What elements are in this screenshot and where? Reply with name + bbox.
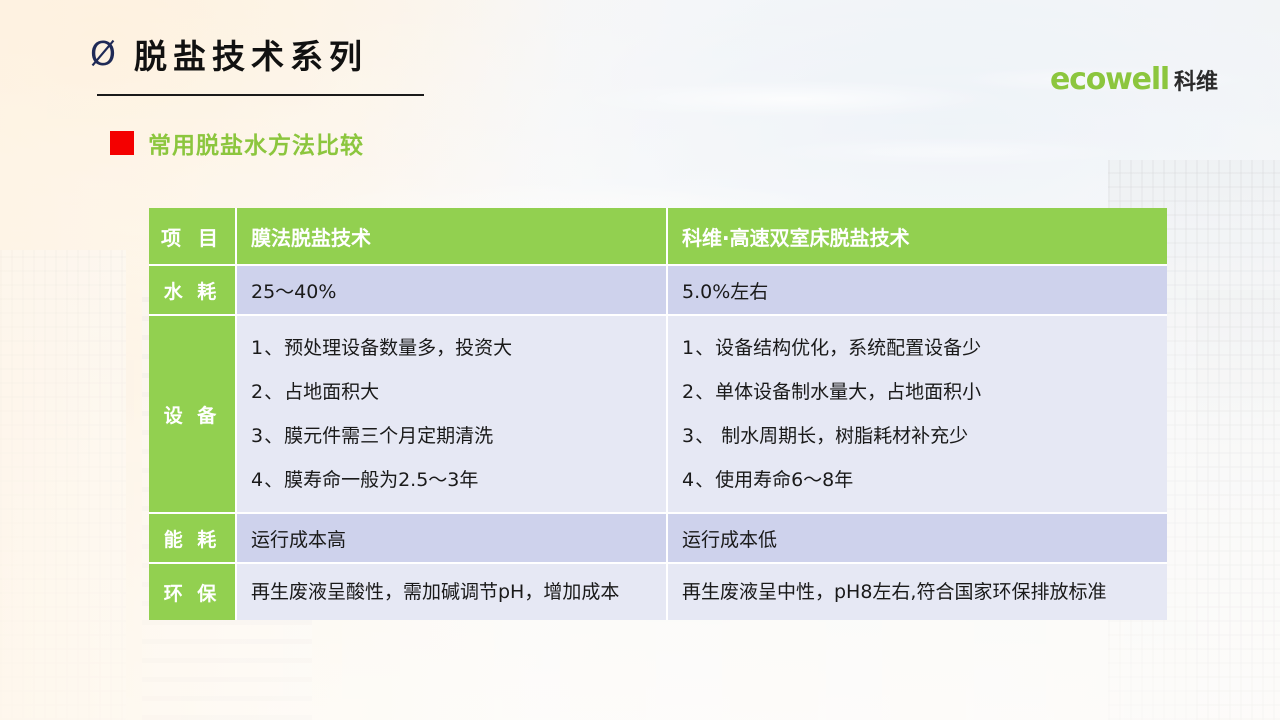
- list-item: 4、膜寿命一般为2.5～3年: [251, 458, 666, 502]
- list-item-text: 制水周期长，树脂耗材补充少: [715, 425, 968, 447]
- row-value-col-a: 25～40%: [236, 265, 667, 315]
- row-value-col-b: 运行成本低: [667, 513, 1167, 563]
- slashed-circle-icon: Ø: [90, 37, 116, 70]
- list-item-text: 使用寿命6～8年: [715, 469, 853, 491]
- row-value-col-b: 1、设备结构优化，系统配置设备少 2、单体设备制水量大，占地面积小 3、 制水周…: [667, 315, 1167, 513]
- list-item-number: 1、: [251, 337, 284, 359]
- logo-chinese-name: 科维: [1174, 64, 1218, 96]
- list-item: 1、预处理设备数量多，投资大: [251, 326, 666, 370]
- table-row: 环 保 再生废液呈酸性，需加碱调节pH，增加成本 再生废液呈中性，pH8左右,符…: [149, 563, 1167, 620]
- list-item-text: 膜寿命一般为2.5～3年: [284, 469, 478, 491]
- list-item-number: 2、: [251, 381, 284, 403]
- section-subtitle-row: 常用脱盐水方法比较: [110, 126, 364, 160]
- page-title-row: Ø 脱盐技术系列: [90, 30, 368, 78]
- section-subtitle: 常用脱盐水方法比较: [148, 126, 364, 160]
- list-item: 2、单体设备制水量大，占地面积小: [682, 370, 1167, 414]
- table-header-row: 项 目 膜法脱盐技术 科维·高速双室床脱盐技术: [149, 208, 1167, 265]
- header-cell-col-a: 膜法脱盐技术: [236, 208, 667, 265]
- row-value-col-b: 5.0%左右: [667, 265, 1167, 315]
- row-value-col-a: 1、预处理设备数量多，投资大 2、占地面积大 3、膜元件需三个月定期清洗 4、膜…: [236, 315, 667, 513]
- row-label: 设 备: [149, 315, 236, 513]
- list-item-number: 2、: [682, 381, 715, 403]
- equipment-list-col-a: 1、预处理设备数量多，投资大 2、占地面积大 3、膜元件需三个月定期清洗 4、膜…: [251, 326, 666, 502]
- list-item: 2、占地面积大: [251, 370, 666, 414]
- row-value-col-a: 运行成本高: [236, 513, 667, 563]
- row-label: 能 耗: [149, 513, 236, 563]
- logo-wordmark: ecowell: [1050, 62, 1169, 97]
- slide-canvas: Ø 脱盐技术系列 ecowell 科维 常用脱盐水方法比较 项 目 膜法脱盐技术…: [0, 0, 1280, 720]
- list-item-text: 膜元件需三个月定期清洗: [284, 425, 493, 447]
- list-item: 1、设备结构优化，系统配置设备少: [682, 326, 1167, 370]
- list-item-number: 1、: [682, 337, 715, 359]
- row-value-col-a: 再生废液呈酸性，需加碱调节pH，增加成本: [236, 563, 667, 620]
- equipment-list-col-b: 1、设备结构优化，系统配置设备少 2、单体设备制水量大，占地面积小 3、 制水周…: [682, 326, 1167, 502]
- list-item-number: 3、: [251, 425, 284, 447]
- row-label: 水 耗: [149, 265, 236, 315]
- list-item: 3、 制水周期长，树脂耗材补充少: [682, 414, 1167, 458]
- row-value-col-b: 再生废液呈中性，pH8左右,符合国家环保排放标准: [667, 563, 1167, 620]
- header-cell-col-b: 科维·高速双室床脱盐技术: [667, 208, 1167, 265]
- brand-logo: ecowell 科维: [1050, 62, 1218, 97]
- table-row: 水 耗 25～40% 5.0%左右: [149, 265, 1167, 315]
- list-item-text: 占地面积大: [284, 381, 379, 403]
- table-row: 设 备 1、预处理设备数量多，投资大 2、占地面积大 3、膜元件需三个月定期清洗…: [149, 315, 1167, 513]
- list-item-text: 单体设备制水量大，占地面积小: [715, 381, 981, 403]
- page-title: 脱盐技术系列: [134, 30, 368, 78]
- header-cell-label: 项 目: [149, 208, 236, 265]
- list-item-text: 设备结构优化，系统配置设备少: [715, 337, 981, 359]
- table-row: 能 耗 运行成本高 运行成本低: [149, 513, 1167, 563]
- red-square-bullet-icon: [110, 131, 134, 155]
- list-item: 4、使用寿命6～8年: [682, 458, 1167, 502]
- row-label: 环 保: [149, 563, 236, 620]
- list-item-number: 4、: [251, 469, 284, 491]
- list-item-number: 4、: [682, 469, 715, 491]
- list-item-number: 3、: [682, 425, 715, 447]
- comparison-table: 项 目 膜法脱盐技术 科维·高速双室床脱盐技术 水 耗 25～40% 5.0%左…: [149, 208, 1167, 620]
- list-item-text: 预处理设备数量多，投资大: [284, 337, 512, 359]
- title-divider: [97, 94, 424, 96]
- list-item: 3、膜元件需三个月定期清洗: [251, 414, 666, 458]
